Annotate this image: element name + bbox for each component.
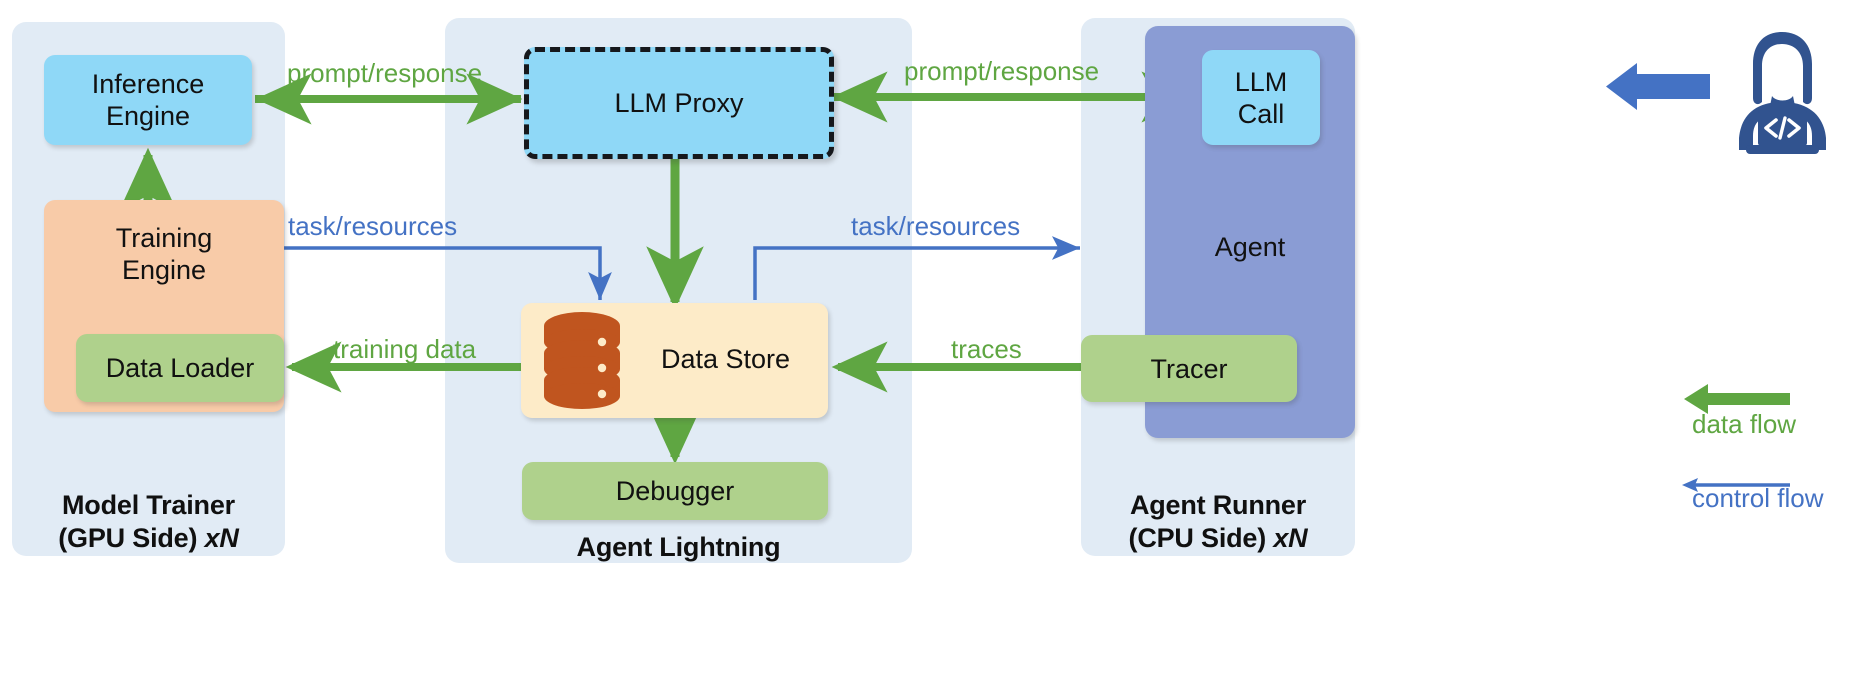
panel-label-agent-lightning: Agent Lightning <box>445 531 912 564</box>
node-data-loader-label: Data Loader <box>106 352 255 384</box>
legend-label-control-flow: control flow <box>1692 483 1824 514</box>
node-data-store-label: Data Store <box>661 343 790 375</box>
panel-label-agent-runner: Agent Runner (CPU Side) xN <box>1081 489 1355 555</box>
edge-label-prompt-response-right: prompt/response <box>904 56 1099 87</box>
edge-label-task-resources-right: task/resources <box>851 211 1020 242</box>
panel-label-agent-lightning-line1: Agent Lightning <box>445 531 912 564</box>
node-inference-engine-line2: Engine <box>106 100 190 132</box>
diagram-canvas: Inference Engine Training Engine Data Lo… <box>0 0 1852 684</box>
node-data-loader[interactable]: Data Loader <box>76 334 284 402</box>
panel-label-model-trainer-line2: (GPU Side) <box>58 523 204 553</box>
panel-label-agent-runner-line2: (CPU Side) <box>1129 523 1274 553</box>
node-llm-call-line1: LLM <box>1235 66 1288 98</box>
node-training-engine-line2: Engine <box>122 254 206 286</box>
edge-label-prompt-response-left: prompt/response <box>287 58 482 89</box>
node-tracer[interactable]: Tracer <box>1081 335 1297 402</box>
node-data-store[interactable]: Data Store <box>521 303 828 418</box>
node-debugger-label: Debugger <box>616 475 735 507</box>
node-llm-call[interactable]: LLM Call <box>1202 50 1320 145</box>
database-icon <box>539 309 625 413</box>
node-tracer-label: Tracer <box>1150 353 1227 385</box>
node-debugger[interactable]: Debugger <box>522 462 828 520</box>
node-llm-call-line2: Call <box>1238 98 1285 130</box>
node-agent-label: Agent <box>1145 231 1355 263</box>
legend-label-data-flow: data flow <box>1692 409 1796 440</box>
developer-person-icon <box>1715 26 1850 161</box>
edge-label-training-data: training data <box>333 334 476 365</box>
edge-label-traces: traces <box>951 334 1022 365</box>
node-inference-engine-line1: Inference <box>92 68 205 100</box>
node-inference-engine[interactable]: Inference Engine <box>44 55 252 145</box>
panel-label-model-trainer-line1: Model Trainer <box>12 489 285 522</box>
node-training-engine-line1: Training <box>116 222 213 254</box>
edge-label-task-resources-left: task/resources <box>288 211 457 242</box>
panel-label-model-trainer-suffix: xN <box>205 523 239 553</box>
panel-label-model-trainer: Model Trainer (GPU Side) xN <box>12 489 285 555</box>
panel-label-agent-runner-suffix: xN <box>1273 523 1307 553</box>
developer-arrow <box>1606 63 1710 110</box>
panel-label-agent-runner-line1: Agent Runner <box>1081 489 1355 522</box>
node-llm-proxy-label: LLM Proxy <box>614 87 743 119</box>
node-llm-proxy[interactable]: LLM Proxy <box>524 47 834 159</box>
